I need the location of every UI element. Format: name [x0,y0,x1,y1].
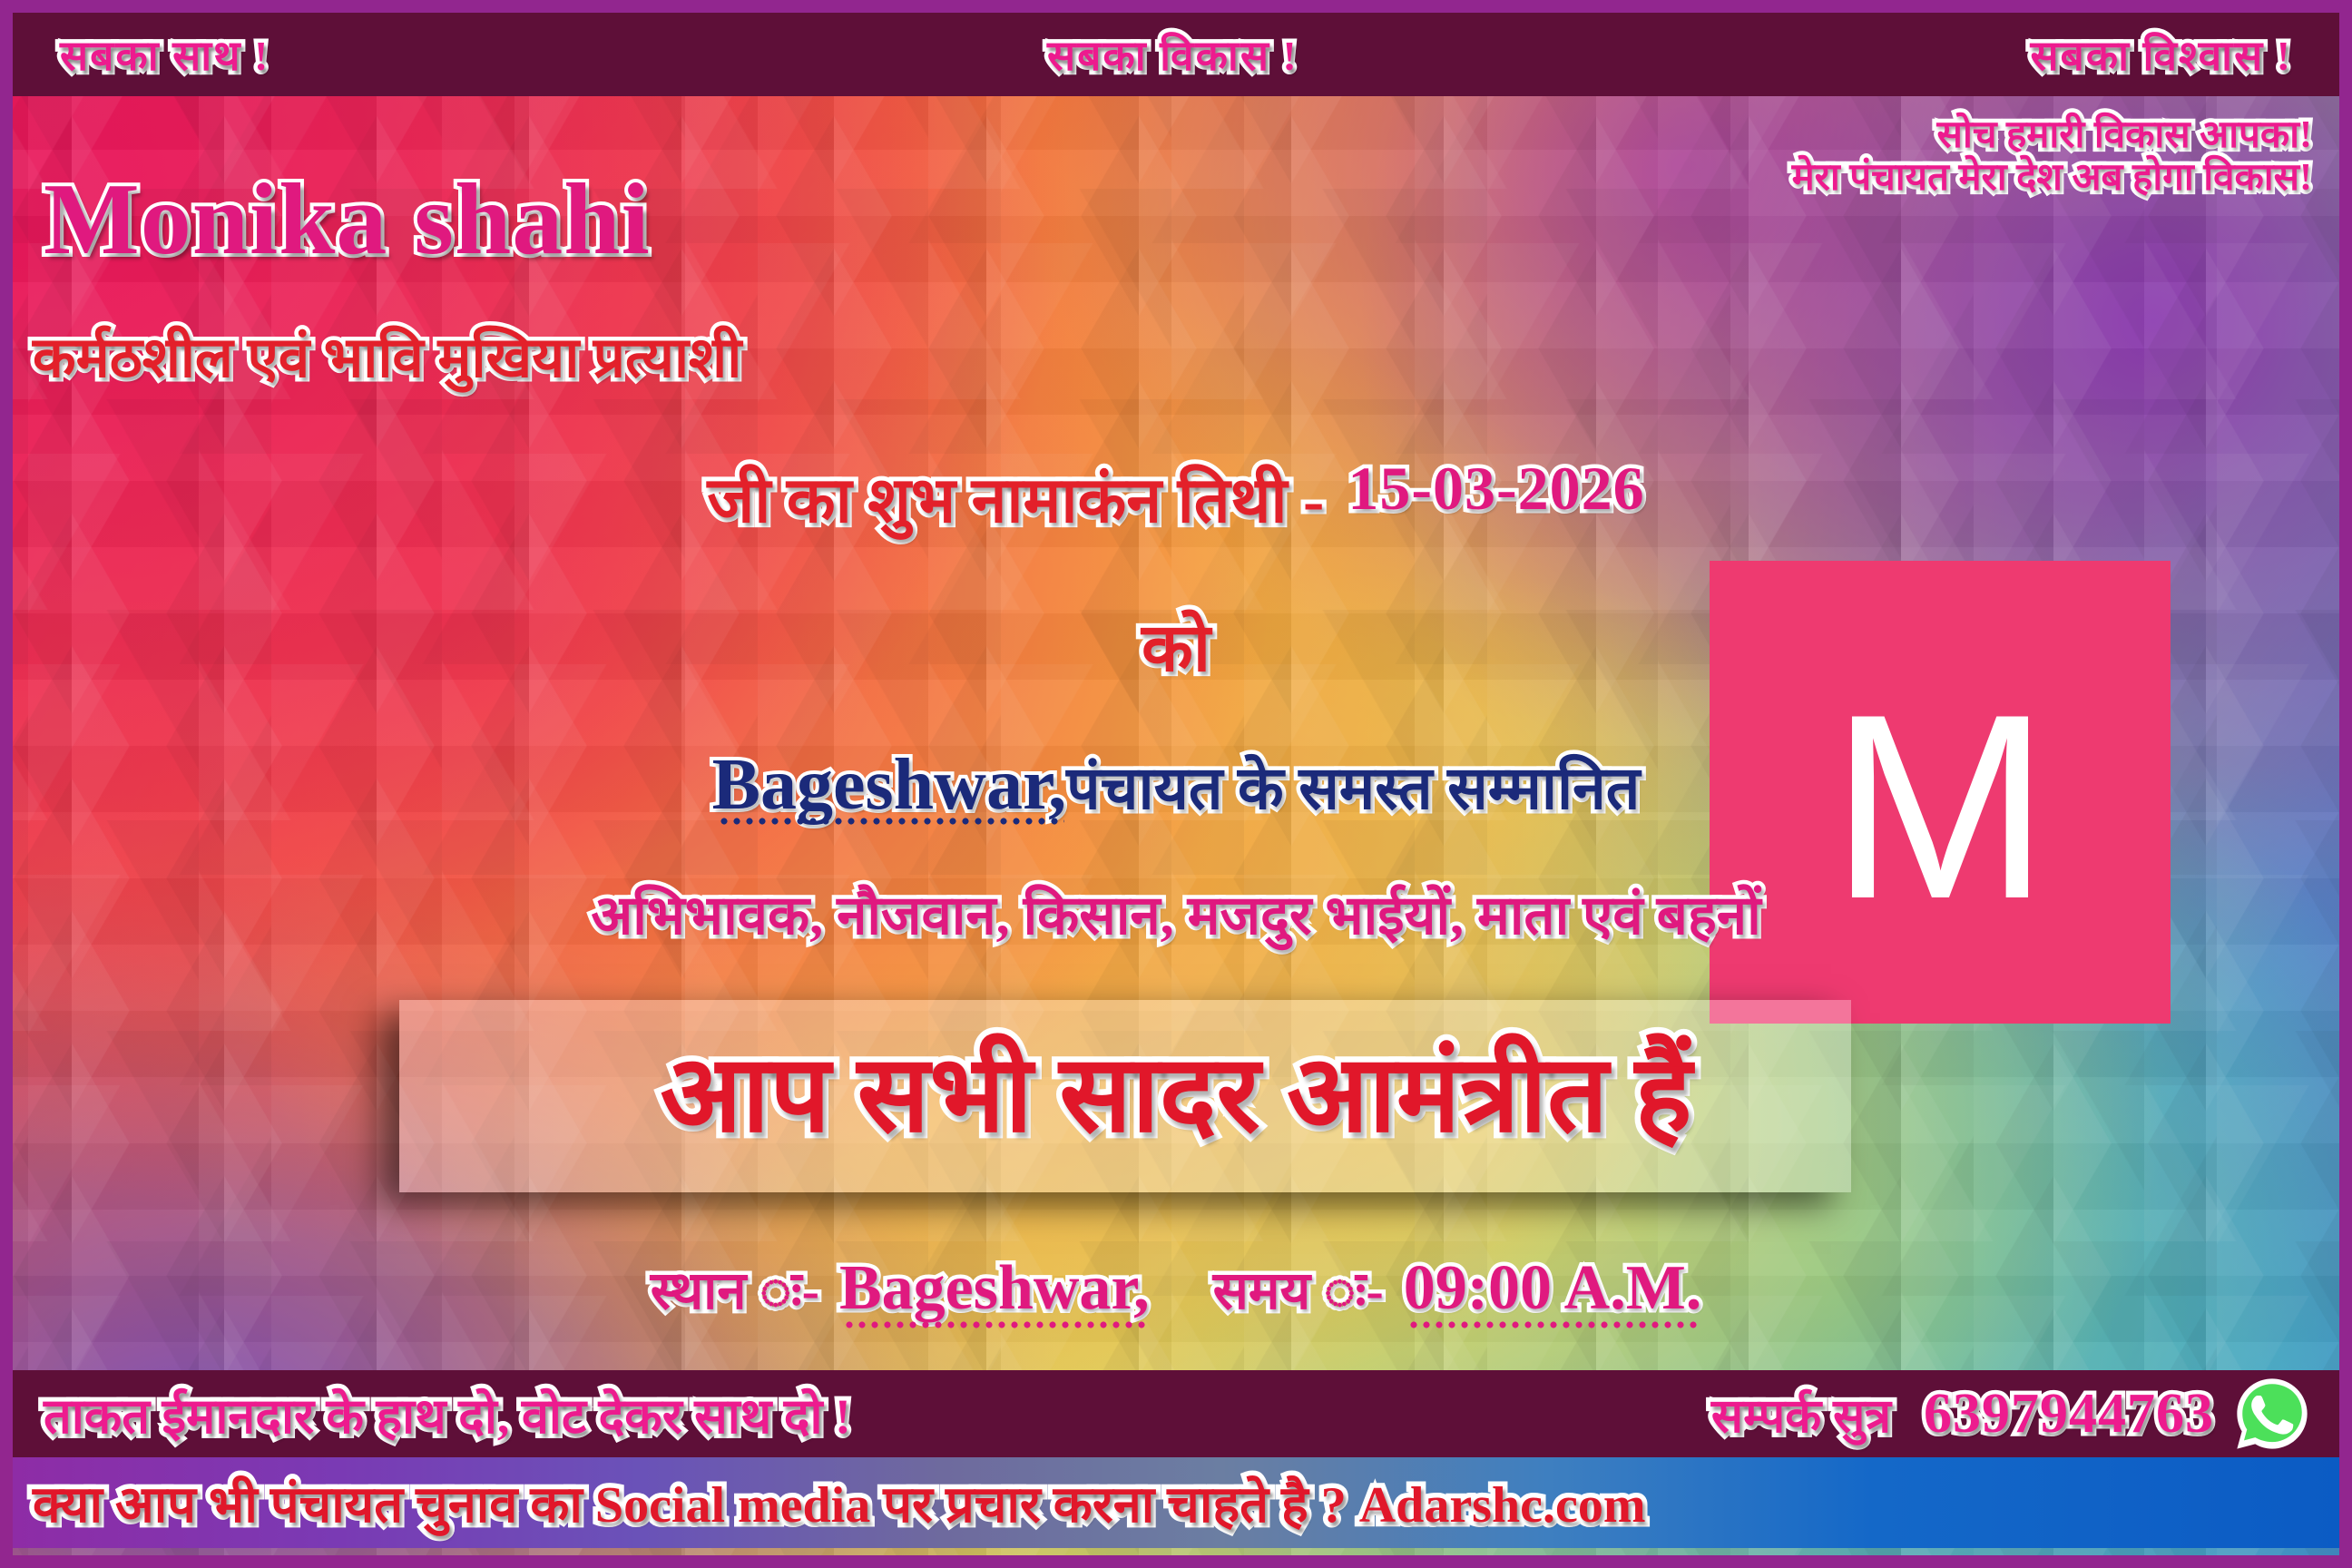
venue-value: Bageshwar, [839,1252,1150,1325]
venue-group: स्थान ः- Bageshwar, [651,1252,1150,1325]
invitation-headline: आप सभी सादर आमंत्रीत हैं [0,1016,2352,1162]
top-right-slogans: सोच हमारी विकास आपका! मेरा पंचायत मेरा द… [1792,114,2312,200]
slogan-sabka-vikas: सबका विकास ! [1047,26,1298,83]
panchayat-place-name: Bageshwar, [712,744,1066,827]
contact-label: सम्पर्क सुत्र [1711,1382,1891,1446]
contact-group: सम्पर्क सुत्र 6397944763 [1711,1376,2310,1452]
voting-appeal-text: ताकत ईमानदार के हाथ दो, वोट देकर साथ दो … [44,1380,851,1447]
slogan-soch-hamari: सोच हमारी विकास आपका! [1792,114,2312,157]
panchayat-line-text: पंचायत के समस्त सम्मानित [1066,745,1640,827]
slogan-mera-panchayat: मेरा पंचायत मेरा देश अब होगा विकास! [1792,157,2312,200]
nomination-date-row: जी का शुभ नामाकंन तिथी - 15-03-2026 [0,454,2352,541]
nomination-date-label: जी का शुभ नामाकंन तिथी - [707,454,1324,541]
slogan-sabka-saath: सबका साथ ! [60,26,269,83]
nomination-date-value: 15-03-2026 [1347,453,1644,524]
candidate-name: Monika shahi [44,162,651,279]
time-label: समय ः- [1213,1252,1384,1324]
appeal-contact-bar: ताकत ईमानदार के हाथ दो, वोट देकर साथ दो … [13,1370,2339,1457]
slogan-sabka-vishwas: सबका विश्वास ! [2030,26,2292,83]
promo-advertisement-bar: क्या आप भी पंचायत चुनाव का Social media … [13,1457,2339,1548]
election-invitation-poster: सबका साथ ! सबका विकास ! सबका विश्वास ! स… [0,0,2352,1568]
contact-phone-number[interactable]: 6397944763 [1924,1382,2214,1446]
date-connector-ko: को [0,599,2352,691]
panchayat-line: Bageshwar, पंचायत के समस्त सम्मानित [0,744,2352,827]
time-value: 09:00 A.M. [1404,1252,1702,1325]
audience-line: अभिभावक, नौजवान, किसान, मजदुर भाईयों, मा… [0,876,2352,950]
candidate-role: कर्मठशील एवं भावि मुखिया प्रत्याशी [33,318,741,394]
promo-text[interactable]: क्या आप भी पंचायत चुनाव का Social media … [13,1468,1645,1537]
top-slogan-bar: सबका साथ ! सबका विकास ! सबका विश्वास ! [13,13,2339,96]
time-group: समय ः- 09:00 A.M. [1213,1252,1702,1325]
whatsapp-icon[interactable] [2234,1376,2310,1452]
venue-time-row: स्थान ः- Bageshwar, समय ः- 09:00 A.M. [0,1252,2352,1325]
venue-label: स्थान ः- [651,1252,819,1324]
